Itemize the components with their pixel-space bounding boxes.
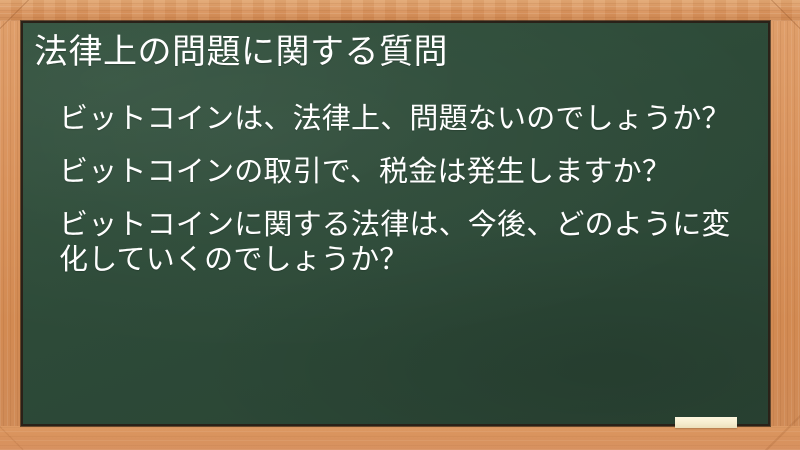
list-item: ビットコインは、法律上、問題ないのでしょうか？ — [59, 101, 735, 136]
chalkboard-border: 法律上の問題に関する質問 ビットコインは、法律上、問題ないのでしょうか？ ビット… — [21, 21, 770, 426]
chalkboard-surface: 法律上の問題に関する質問 ビットコインは、法律上、問題ないのでしょうか？ ビット… — [23, 23, 768, 424]
question-list: ビットコインは、法律上、問題ないのでしょうか？ ビットコインの取引で、税金は発生… — [59, 101, 759, 277]
list-item: ビットコインに関する法律は、今後、どのように変化していくのでしょうか？ — [59, 207, 735, 277]
frame-rail-top — [0, 0, 800, 21]
frame-rail-bottom — [0, 426, 800, 450]
chalkboard-slide: 法律上の問題に関する質問 ビットコインは、法律上、問題ないのでしょうか？ ビット… — [0, 0, 800, 450]
chalk-eraser-icon — [675, 417, 737, 428]
slide-content: 法律上の問題に関する質問 ビットコインは、法律上、問題ないのでしょうか？ ビット… — [23, 23, 768, 424]
page-title: 法律上の問題に関する質問 — [34, 30, 754, 74]
list-item: ビットコインの取引で、税金は発生しますか？ — [59, 154, 759, 189]
